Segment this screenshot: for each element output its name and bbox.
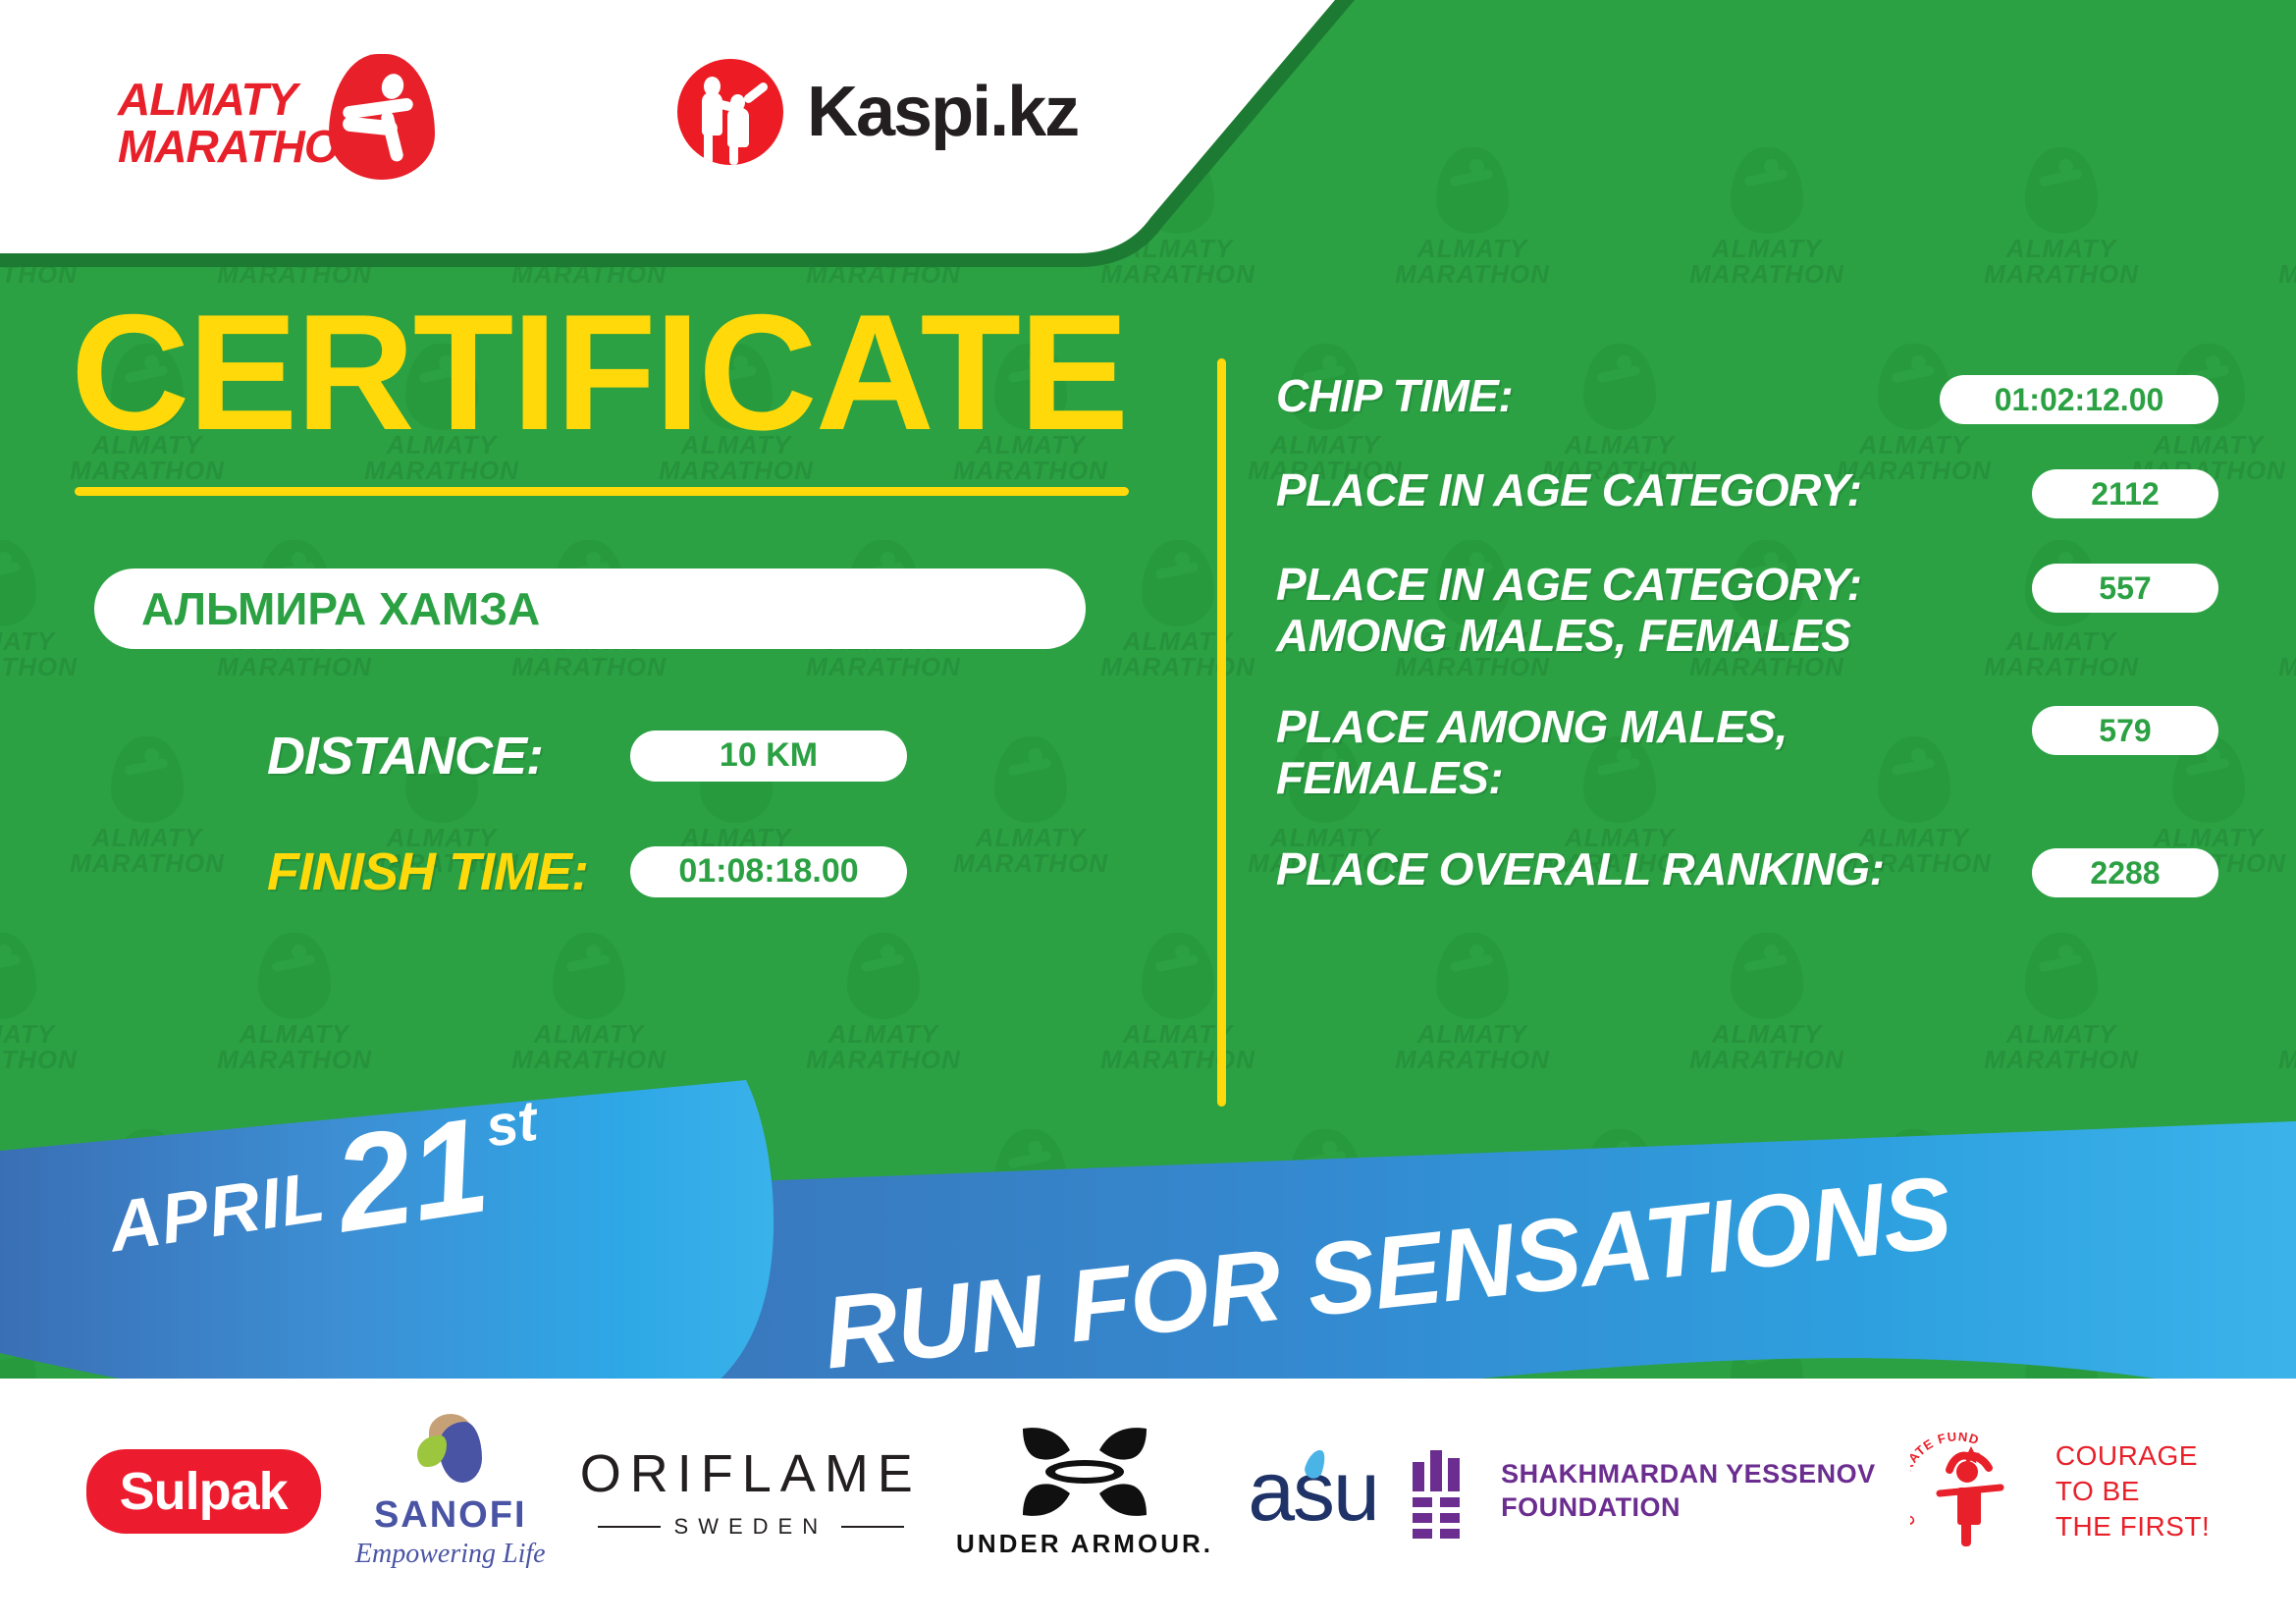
page-title: CERTIFICATE: [71, 295, 1158, 452]
watermark-line-1: ALMATY: [2209, 236, 2296, 261]
watermark-line-1: ALMATY: [0, 1021, 147, 1047]
watermark-line-1: ALMATY: [1620, 236, 1914, 261]
result-label: PLACE IN AGE CATEGORY:: [1276, 465, 2004, 516]
distance-label: DISTANCE:: [267, 726, 630, 786]
result-row: PLACE AMONG MALES, FEMALES:579: [1276, 702, 2218, 803]
participant-name-field: АЛЬМИРА ХАМЗА: [94, 568, 1086, 649]
certificate-page: ALMATYMARATHONALMATYMARATHONALMATYMARATH…: [0, 0, 2296, 1624]
result-row: PLACE IN AGE CATEGORY:2112: [1276, 465, 2218, 518]
result-value: 557: [2032, 564, 2218, 613]
oriflame-rule-left: [598, 1526, 661, 1528]
watermark-line-1: ALMATY: [736, 1021, 1031, 1047]
result-label: PLACE OVERALL RANKING:: [1276, 844, 2004, 895]
oriflame-wordmark: ORIFLAME: [580, 1443, 922, 1504]
watermark-line-2: MARATHON: [1914, 261, 2209, 287]
distance-value: 10 KM: [630, 731, 907, 782]
watermark-line-1: ALMATY: [1031, 1021, 1325, 1047]
watermark-tile: ALMATYMARATHON: [2209, 540, 2296, 727]
watermark-line-1: ALMATY: [442, 1021, 736, 1047]
watermark-drop-icon: [553, 933, 625, 1019]
watermark-drop-icon: [2025, 147, 2098, 234]
watermark-drop-icon: [1142, 933, 1214, 1019]
result-value: 2112: [2032, 469, 2218, 518]
yessenov-line-2: FOUNDATION: [1501, 1491, 1876, 1525]
watermark-line-2: MARATHON: [2209, 654, 2296, 679]
watermark-line-2: MARATHON: [1620, 261, 1914, 287]
watermark-line-1: ALMATY: [147, 1021, 442, 1047]
watermark-drop-icon: [1731, 933, 1803, 1019]
watermark-line-2: MARATHON: [147, 1047, 442, 1072]
oriflame-rule-right: [841, 1526, 904, 1528]
vertical-divider: [1217, 358, 1226, 1107]
watermark-line-2: MARATHON: [1325, 1047, 1620, 1072]
watermark-line-1: ALMATY: [1914, 1021, 2209, 1047]
result-value: 2288: [2032, 848, 2218, 897]
asu-wordmark: asu: [1248, 1443, 1378, 1541]
oriflame-country: SWEDEN: [674, 1514, 828, 1540]
watermark-tile: ALMATYMARATHON: [2209, 147, 2296, 334]
watermark-drop-icon: [847, 933, 920, 1019]
watermark-tile: ALMATYMARATHON: [1620, 147, 1914, 334]
finish-time-row: FINISH TIME: 01:08:18.00: [267, 841, 1158, 902]
watermark-drop-icon: [0, 933, 36, 1019]
watermark-drop-icon: [1731, 147, 1803, 234]
result-label: CHIP TIME:: [1276, 371, 1912, 422]
finish-time-label: FINISH TIME:: [267, 841, 630, 902]
under-armour-wordmark: UNDER ARMOUR.: [956, 1529, 1213, 1559]
event-day: 21: [329, 1108, 495, 1244]
sanofi-wordmark: SANOFI: [355, 1494, 546, 1537]
courage-runner-icon: CORPORATE FUND: [1910, 1433, 2038, 1550]
finish-time-value: 01:08:18.00: [630, 846, 907, 897]
sponsor-sulpak: Sulpak: [86, 1449, 321, 1534]
yessenov-bars-icon: [1413, 1446, 1475, 1537]
sanofi-bird-icon: [413, 1414, 488, 1489]
watermark-line-1: ALMATY: [1620, 1021, 1914, 1047]
watermark-line-2: MARATHON: [736, 1047, 1031, 1072]
kaspi-logo: Kaspi.kz: [677, 59, 1078, 165]
courage-wordmark: COURAGE TO BE THE FIRST!: [2056, 1438, 2210, 1543]
participant-name: АЛЬМИРА ХАМЗА: [141, 582, 540, 635]
watermark-line-1: ALMATY: [1914, 236, 2209, 261]
runner-leg-back-shape: [380, 110, 404, 163]
distance-row: DISTANCE: 10 KM: [267, 726, 1158, 786]
sponsor-sanofi: SANOFI Empowering Life: [355, 1414, 546, 1570]
watermark-line-2: MARATHON: [442, 1047, 736, 1072]
sponsor-oriflame: ORIFLAME SWEDEN: [580, 1443, 922, 1540]
results-list: CHIP TIME:01:02:12.00PLACE IN AGE CATEGO…: [1276, 371, 2218, 897]
runner-drop-icon: [329, 54, 435, 180]
watermark-line-1: ALMATY: [2209, 1021, 2296, 1047]
courage-line-3: THE FIRST!: [2056, 1509, 2210, 1544]
kaspi-wordmark: Kaspi.kz: [807, 72, 1078, 152]
watermark-line-1: ALMATY: [1325, 1021, 1620, 1047]
sponsor-yessenov-foundation: SHAKHMARDAN YESSENOV FOUNDATION: [1413, 1446, 1876, 1537]
result-row: PLACE OVERALL RANKING:2288: [1276, 844, 2218, 897]
result-value: 579: [2032, 706, 2218, 755]
watermark-tile: ALMATYMARATHON: [1914, 147, 2209, 334]
runner-head-shape: [379, 71, 407, 102]
yessenov-line-1: SHAKHMARDAN YESSENOV: [1501, 1458, 1876, 1491]
title-underline: [75, 487, 1129, 496]
watermark-drop-icon: [2025, 933, 2098, 1019]
watermark-line-2: MARATHON: [1031, 1047, 1325, 1072]
sanofi-tagline: Empowering Life: [355, 1539, 546, 1570]
watermark-drop-icon: [1436, 147, 1509, 234]
result-row: PLACE IN AGE CATEGORY: AMONG MALES, FEMA…: [1276, 560, 2218, 661]
header-logos: ALMATY MARATHON Kaspi.kz: [0, 0, 1178, 196]
child-arm-shape: [742, 81, 770, 104]
sponsor-courage-fund: CORPORATE FUND COURAGE TO BE THE FIRST!: [1910, 1433, 2210, 1550]
watermark-line-2: MARATHON: [1620, 1047, 1914, 1072]
sponsor-bar: Sulpak SANOFI Empowering Life ORIFLAME S…: [0, 1379, 2296, 1624]
yessenov-wordmark: SHAKHMARDAN YESSENOV FOUNDATION: [1501, 1458, 1876, 1525]
sponsor-under-armour: UNDER ARMOUR.: [956, 1425, 1213, 1559]
kaspi-people-icon: [677, 59, 783, 165]
certificate-left-column: CERTIFICATE АЛЬМИРА ХАМЗА DISTANCE: 10 K…: [0, 295, 1158, 902]
watermark-drop-icon: [1436, 933, 1509, 1019]
sponsor-asu: asu: [1248, 1443, 1378, 1541]
almaty-marathon-logo: ALMATY MARATHON: [118, 54, 442, 182]
courage-line-1: COURAGE: [2056, 1438, 2210, 1474]
result-label: PLACE IN AGE CATEGORY: AMONG MALES, FEMA…: [1276, 560, 2004, 661]
watermark-line-2: MARATHON: [1914, 1047, 2209, 1072]
adult-leg-shape: [704, 130, 713, 165]
result-row: CHIP TIME:01:02:12.00: [1276, 371, 2218, 424]
result-value: 01:02:12.00: [1940, 375, 2218, 424]
watermark-line-2: MARATHON: [2209, 1047, 2296, 1072]
oriflame-subline: SWEDEN: [580, 1514, 922, 1540]
watermark-line-1: ALMATY: [2209, 628, 2296, 654]
child-leg-shape: [729, 141, 738, 165]
watermark-line-2: MARATHON: [2209, 261, 2296, 287]
watermark-drop-icon: [258, 933, 331, 1019]
under-armour-icon: [1011, 1425, 1158, 1519]
result-label: PLACE AMONG MALES, FEMALES:: [1276, 702, 2004, 803]
courage-line-2: TO BE: [2056, 1474, 2210, 1509]
sulpak-wordmark: Sulpak: [86, 1449, 321, 1534]
watermark-line-2: MARATHON: [0, 1047, 147, 1072]
